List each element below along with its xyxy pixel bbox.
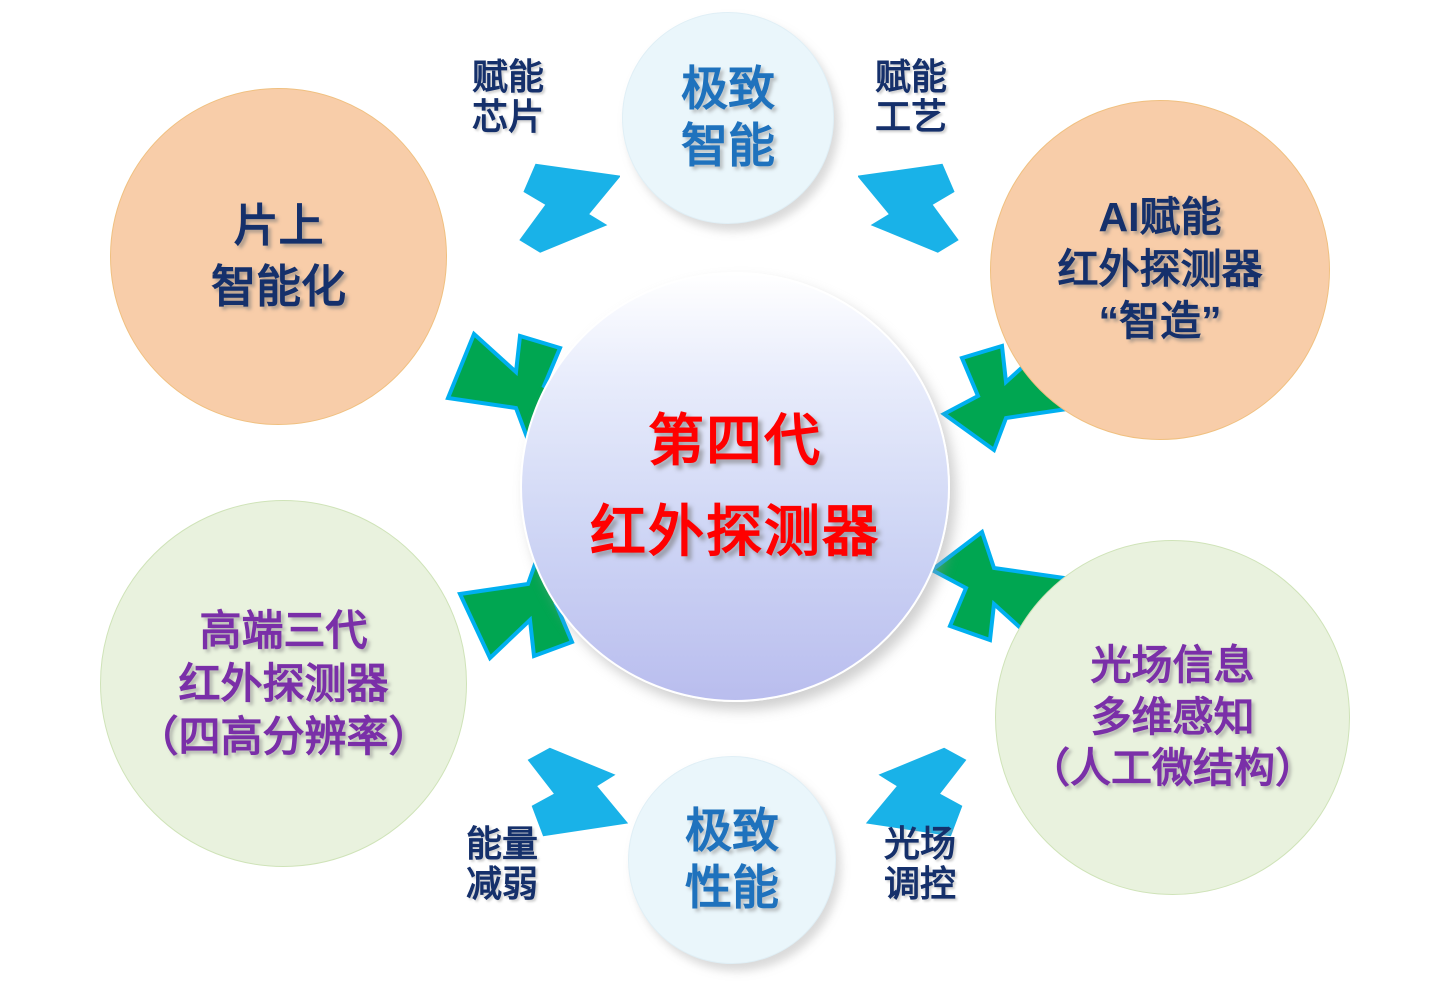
edge-label-empower-process-line-2: 工艺 (875, 97, 947, 137)
edge-label-empower-process-line-1: 赋能 (875, 57, 947, 97)
node-lightfield-sensing-line-1: 光场信息 (1091, 643, 1255, 689)
node-ultimate-intelligence[interactable]: 极致 智能 (622, 12, 834, 224)
node-chip-intelligence[interactable]: 片上 智能化 (110, 88, 447, 425)
node-ultimate-performance[interactable]: 极致 性能 (628, 756, 836, 964)
node-ultimate-performance-line-1: 极致 (685, 805, 779, 858)
edge-label-lightfield-control-line-1: 光场 (884, 824, 956, 864)
node-gen3-detector-line-3: （四高分辨率） (136, 713, 430, 760)
node-center-fourth-gen-detector[interactable]: 第四代 红外探测器 (520, 272, 950, 702)
diagram-canvas: 片上 智能化 AI赋能 红外探测器 “智造” 高端三代 红外探测器 （四高分辨率… (0, 0, 1450, 1003)
node-ai-manufacturing-line-2: 红外探测器 (1058, 247, 1263, 293)
node-ultimate-intelligence-line-2: 智能 (681, 120, 775, 173)
node-gen3-detector[interactable]: 高端三代 红外探测器 （四高分辨率） (100, 500, 467, 867)
node-ai-manufacturing[interactable]: AI赋能 红外探测器 “智造” (990, 100, 1330, 440)
node-gen3-detector-line-1: 高端三代 (199, 607, 367, 654)
edge-label-energy-reduction: 能量 减弱 (466, 824, 538, 905)
edge-label-energy-reduction-line-1: 能量 (466, 824, 538, 864)
node-lightfield-sensing[interactable]: 光场信息 多维感知 （人工微结构） (995, 540, 1350, 895)
edge-label-empower-process: 赋能 工艺 (875, 57, 947, 138)
edge-label-energy-reduction-line-2: 减弱 (466, 864, 538, 904)
edge-label-empower-chip: 赋能 芯片 (472, 57, 544, 138)
center-title-line-2: 红外探测器 (590, 501, 880, 564)
node-ai-manufacturing-line-3: “智造” (1099, 299, 1222, 345)
node-ultimate-intelligence-line-1: 极致 (681, 63, 775, 116)
node-chip-intelligence-line-1: 片上 (233, 201, 323, 251)
edge-label-lightfield-control-line-2: 调控 (884, 864, 956, 904)
node-ultimate-performance-line-2: 性能 (685, 862, 779, 915)
edge-label-empower-chip-line-2: 芯片 (472, 97, 544, 137)
edge-label-empower-chip-line-1: 赋能 (472, 57, 544, 97)
node-chip-intelligence-line-2: 智能化 (211, 262, 346, 312)
node-lightfield-sensing-line-3: （人工微结构） (1029, 746, 1316, 792)
node-lightfield-sensing-line-2: 多维感知 (1091, 695, 1255, 741)
edge-label-lightfield-control: 光场 调控 (884, 824, 956, 905)
node-gen3-detector-line-2: 红外探测器 (178, 660, 388, 707)
arrow-empower-chip-icon (455, 155, 620, 255)
node-ai-manufacturing-line-1: AI赋能 (1099, 195, 1222, 241)
center-title-line-1: 第四代 (648, 410, 822, 473)
